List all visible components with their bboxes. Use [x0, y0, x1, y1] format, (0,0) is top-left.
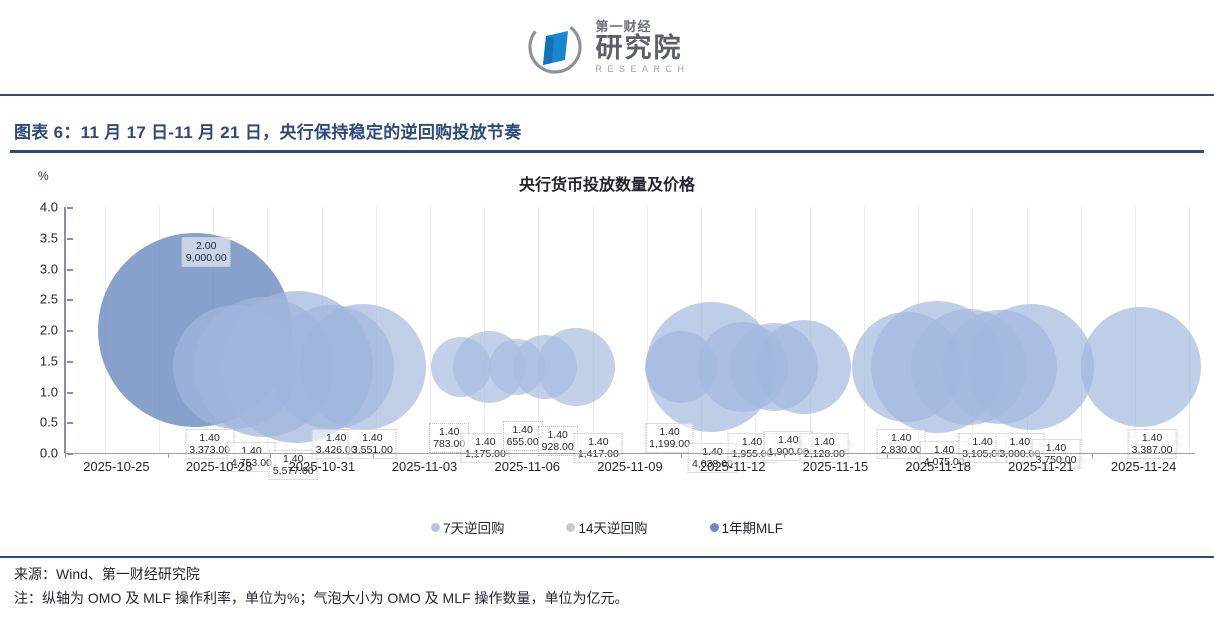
- x-axis-tick-mark: [887, 453, 888, 458]
- y-axis-ticks: 0.00.51.01.52.02.53.03.54.0: [10, 207, 58, 453]
- x-axis-line: [65, 453, 1195, 454]
- x-axis-tick-mark: [1092, 453, 1093, 458]
- x-axis-tick-label: 2025-11-24: [1111, 459, 1177, 474]
- y-axis-tick-mark: [67, 330, 73, 332]
- label-repo-928: 1.40928.00: [538, 426, 578, 456]
- logo-bottom-text: RESEARCH: [595, 65, 689, 74]
- data-label-amount: 3,387.00: [1132, 444, 1173, 456]
- y-axis-tick-label: 3.5: [40, 230, 58, 245]
- x-axis-tick-mark: [168, 453, 169, 458]
- y-axis-tick-label: 1.0: [40, 384, 58, 399]
- x-axis-tick-label: 2025-10-25: [83, 459, 150, 474]
- gridline: [647, 207, 648, 453]
- chart-title: 央行货币投放数量及价格: [10, 171, 1204, 195]
- data-label-rate: 1.40: [881, 432, 922, 444]
- y-axis-tick-label: 1.5: [40, 353, 58, 368]
- footer: 来源：Wind、第一财经研究院 注：纵轴为 OMO 及 MLF 操作利率，单位为…: [14, 562, 1194, 610]
- legend-label: 14天逆回购: [578, 517, 647, 537]
- data-label-rate: 1.40: [804, 436, 845, 448]
- y-axis-tick-mark: [67, 299, 73, 301]
- y-axis-tick-mark: [67, 361, 73, 363]
- label-repo-2830: 1.402,830.00: [877, 429, 926, 459]
- x-axis-tick-mark: [579, 453, 580, 458]
- x-axis-tick-mark: [990, 453, 991, 458]
- legend-swatch-icon: [431, 523, 440, 532]
- x-axis-tick-label: 2025-11-06: [494, 459, 560, 474]
- data-label-rate: 1.40: [507, 424, 539, 436]
- x-axis-tick-label: 2025-11-09: [597, 459, 663, 474]
- x-axis-tick-mark: [270, 453, 271, 458]
- data-label-rate: 1.40: [542, 429, 574, 441]
- brand-mark-icon: [524, 16, 586, 78]
- data-label-amount: 928.00: [542, 441, 574, 453]
- data-label-amount: 1,199.00: [649, 438, 690, 450]
- legend-swatch-icon: [710, 523, 719, 532]
- data-label-rate: 1.40: [189, 432, 230, 444]
- data-label-rate: 2.00: [186, 240, 227, 252]
- data-label-amount: 3,373.00: [189, 444, 230, 456]
- x-axis-tick-label: 2025-11-21: [1008, 459, 1074, 474]
- chart-container: % 央行货币投放数量及价格 0.00.51.01.52.02.53.03.54.…: [10, 165, 1204, 550]
- label-mlf-9000: 2.009,000.00: [182, 237, 231, 267]
- x-axis-tick-mark: [476, 453, 477, 458]
- y-axis-tick-label: 2.5: [40, 292, 58, 307]
- x-axis-tick-mark: [65, 453, 66, 458]
- bubble-repo-3551[interactable]: [300, 304, 426, 430]
- data-label-amount: 655.00: [507, 436, 539, 448]
- bubble-repo-1417[interactable]: [537, 328, 615, 406]
- y-axis-tick-label: 0.0: [40, 446, 58, 461]
- data-label-rate: 1.40: [352, 432, 393, 444]
- y-axis-tick-label: 3.0: [40, 261, 58, 276]
- legend-item-1[interactable]: 7天逆回购: [431, 517, 505, 537]
- x-axis-tick-mark: [373, 453, 374, 458]
- header-divider: [0, 94, 1214, 96]
- gridline: [593, 207, 594, 453]
- figure-title: 图表 6：11 月 17 日-11 月 21 日，央行保持稳定的逆回购投放节奏: [0, 118, 1214, 150]
- figure-title-underline: [10, 150, 1204, 153]
- y-axis-tick-mark: [67, 269, 73, 271]
- legend-label: 7天逆回购: [443, 517, 505, 537]
- x-axis-tick-mark: [681, 453, 682, 458]
- legend-swatch-icon: [566, 523, 575, 532]
- data-label-rate: 1.40: [1132, 432, 1173, 444]
- note-line: 注：纵轴为 OMO 及 MLF 操作利率，单位为%；气泡大小为 OMO 及 ML…: [14, 586, 1194, 610]
- y-axis-tick-label: 0.5: [40, 415, 58, 430]
- x-axis-tick-label: 2025-11-15: [803, 459, 869, 474]
- label-repo-3387: 1.403,387.00: [1128, 429, 1177, 459]
- data-label-amount: 9,000.00: [186, 252, 227, 264]
- y-axis-tick-label: 2.0: [40, 323, 58, 338]
- y-axis-tick-mark: [67, 207, 73, 209]
- legend-item-2[interactable]: 14天逆回购: [566, 517, 647, 537]
- data-label-rate: 1.40: [649, 426, 690, 438]
- gridline: [1189, 207, 1190, 453]
- y-axis-tick-mark: [67, 422, 73, 424]
- x-axis-tick-label: 2025-10-28: [186, 459, 253, 474]
- page-header: 第一财经 研究院 RESEARCH: [0, 0, 1214, 94]
- label-repo-1199: 1.401,199.00: [645, 423, 694, 453]
- logo-top-text: 第一财经: [595, 20, 689, 33]
- logo-text: 第一财经 研究院 RESEARCH: [595, 20, 689, 74]
- chart-legend: 7天逆回购14天逆回购1年期MLF: [10, 517, 1204, 537]
- legend-item-3[interactable]: 1年期MLF: [710, 517, 784, 537]
- x-axis-tick-mark: [784, 453, 785, 458]
- footer-divider: [0, 556, 1214, 558]
- legend-label: 1年期MLF: [722, 517, 784, 537]
- source-line: 来源：Wind、第一财经研究院: [14, 562, 1194, 586]
- y-axis-tick-mark: [67, 392, 73, 394]
- x-axis-tick-label: 2025-11-03: [392, 459, 458, 474]
- bubble-repo-3750[interactable]: [968, 304, 1094, 430]
- x-axis-tick-label: 2025-10-31: [289, 459, 356, 474]
- plot-area: 2.009,000.001.403,373.001.404,753.001.40…: [65, 207, 1195, 453]
- figure-title-block: 图表 6：11 月 17 日-11 月 21 日，央行保持稳定的逆回购投放节奏: [0, 118, 1214, 153]
- data-label-rate: 1.40: [465, 436, 506, 448]
- bubble-repo-3387[interactable]: [1081, 307, 1201, 427]
- x-axis-tick-label: 2025-11-12: [700, 459, 766, 474]
- data-label-rate: 1.40: [231, 445, 272, 457]
- x-axis-tick-label: 2025-11-18: [905, 459, 971, 474]
- gridline: [538, 207, 539, 453]
- y-axis-tick-label: 4.0: [40, 200, 58, 215]
- gridline: [430, 207, 431, 453]
- data-label-rate: 1.40: [578, 436, 619, 448]
- y-axis-tick-mark: [67, 238, 73, 240]
- bubble-repo-2128[interactable]: [757, 320, 851, 414]
- y-axis-tick-mark: [67, 453, 73, 455]
- logo: 第一财经 研究院 RESEARCH: [524, 16, 689, 78]
- logo-mid-text: 研究院: [595, 35, 689, 62]
